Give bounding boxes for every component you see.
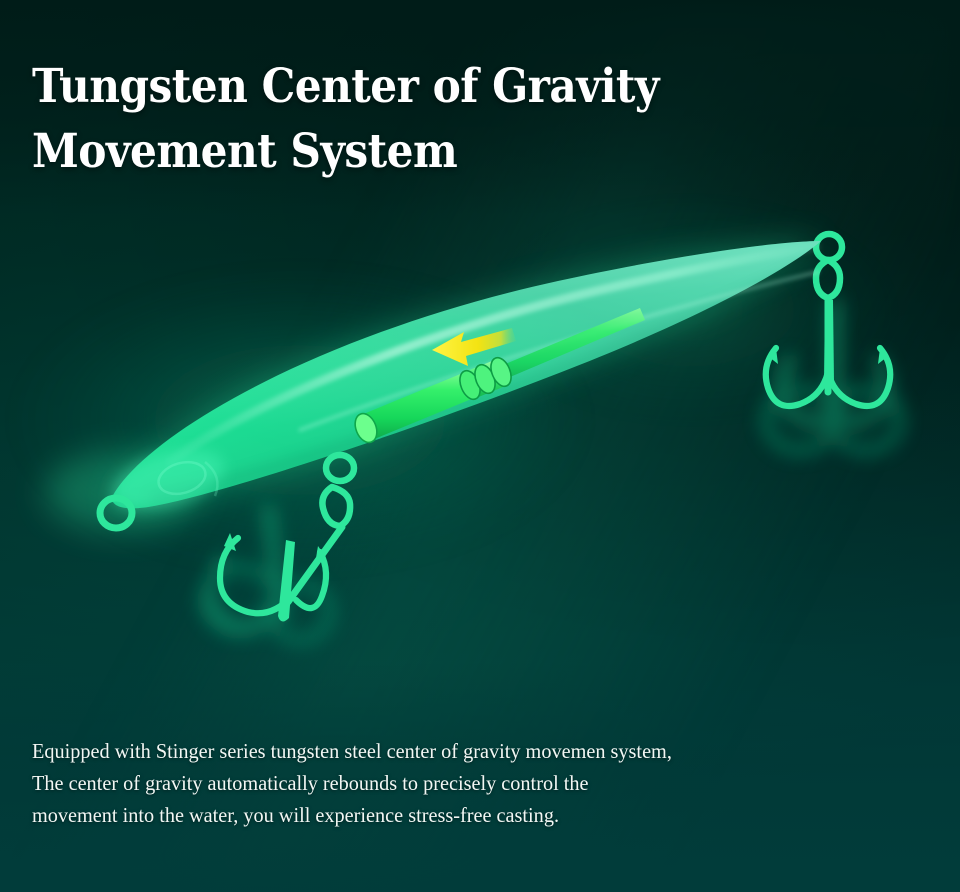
description-line-2: The center of gravity automatically rebo… <box>32 767 816 799</box>
promo-banner: Tungsten Center of Gravity Movement Syst… <box>0 0 960 892</box>
description-line-3: movement into the water, you will experi… <box>32 799 816 831</box>
description-line-1: Equipped with Stinger series tungsten st… <box>32 735 816 767</box>
page-title: Tungsten Center of Gravity Movement Syst… <box>32 54 892 184</box>
description-block: Equipped with Stinger series tungsten st… <box>32 735 844 831</box>
title-line-2: Movement System <box>32 119 806 184</box>
title-line-1: Tungsten Center of Gravity <box>32 54 806 119</box>
rear-hook-point-center <box>824 300 834 387</box>
